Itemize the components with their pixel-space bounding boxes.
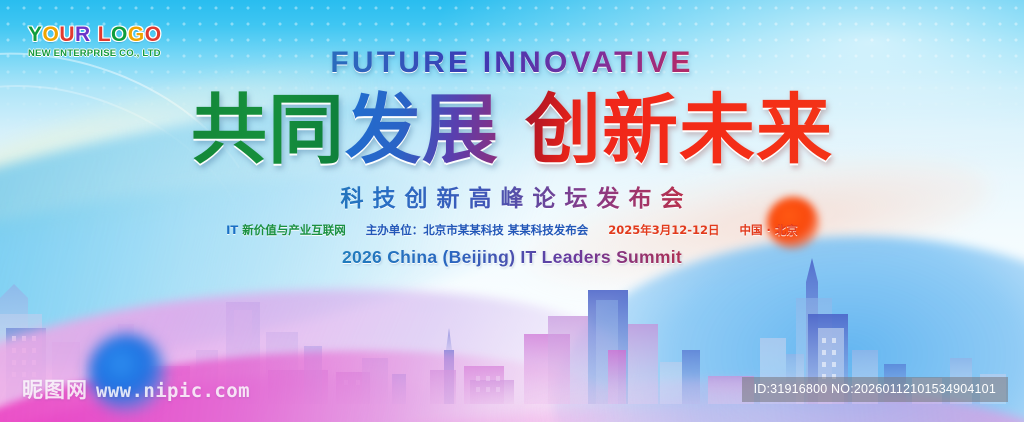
- title-segment-gongtong: 共同: [191, 90, 345, 169]
- event-date: 2025年3月12-12日: [608, 222, 719, 238]
- chinese-main-title: 共同发展创新未来: [0, 90, 1024, 169]
- event-info-row: IT 新价值与产业互联网 主办单位：北京市某某科技 某某科技发布会 2025年3…: [0, 222, 1024, 238]
- event-theme: IT 新价值与产业互联网: [226, 222, 346, 238]
- event-organizer: 主办单位：北京市某某科技 某某科技发布会: [366, 222, 589, 238]
- title-segment-chuang: 创: [525, 90, 602, 169]
- event-location: 中国 · 北京: [740, 222, 798, 238]
- title-segment-xinweilai: 新未来: [602, 90, 833, 169]
- asset-id-badge: ID:31916800 NO:20260112101534904101: [742, 377, 1008, 402]
- chinese-subtitle: 科技创新高峰论坛发布会: [0, 179, 1024, 213]
- event-theme-prefix: IT: [226, 223, 238, 237]
- title-segment-fazhan: 发展: [345, 90, 499, 169]
- blue-orb-decoration: [88, 334, 166, 412]
- poster-content: FUTURE INNOVATIVE 共同发展创新未来 科技创新高峰论坛发布会 I…: [0, 0, 1024, 268]
- event-theme-text: 新价值与产业互联网: [242, 223, 346, 237]
- english-headline: FUTURE INNOVATIVE: [0, 48, 1024, 78]
- english-subtitle: 2026 China (Beijing) IT Leaders Summit: [0, 247, 1024, 268]
- poster-canvas: YOURLOGO NEW ENTERPRISE CO., LTD FUTURE …: [0, 0, 1024, 422]
